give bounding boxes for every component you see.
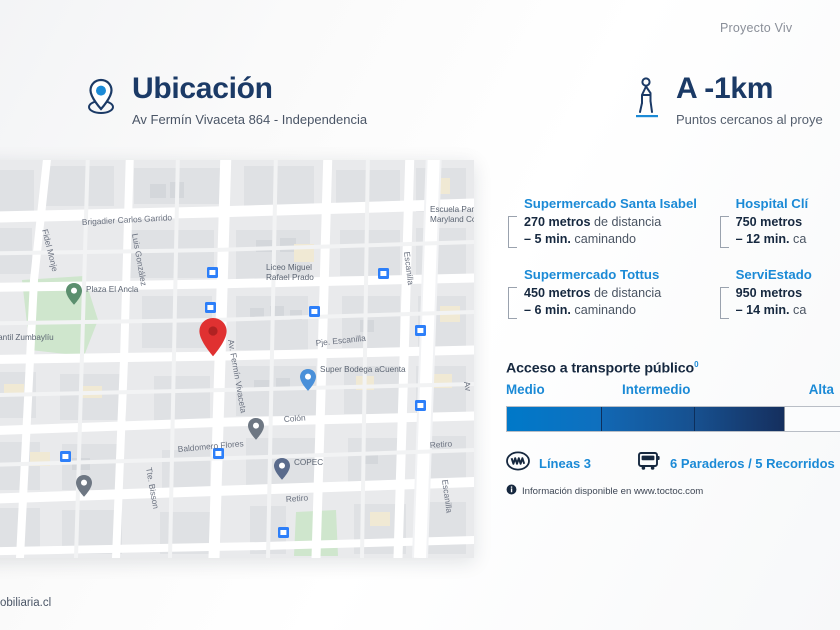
map-place-label: Plaza El Ancla (86, 285, 139, 294)
poi-name: Hospital Clí (736, 196, 840, 211)
transport-access-title-text: Acceso a transporte público (506, 361, 694, 377)
poi-row: Supermercado Santa Isabel 270 metros de … (506, 196, 840, 247)
poi-time-value: – 6 min. (524, 303, 571, 317)
map-street-label: Colón (283, 412, 306, 424)
bracket-icon (508, 287, 517, 319)
info-note-text: Información disponible en www.toctoc.com (522, 486, 703, 497)
scale-label-medio: Medio (506, 382, 545, 397)
page-title: Ubicación (132, 74, 367, 104)
pedestrian-walking-icon (632, 76, 662, 125)
poi-time-value: – 14 min. (736, 303, 790, 317)
transport-access-bar (506, 406, 840, 432)
poi-distance: 270 metros de distancia (524, 214, 718, 231)
map-place-label: Liceo Miguel (266, 263, 312, 272)
poi-time: – 12 min. ca (736, 231, 840, 248)
bus-stops-label: 6 Paraderos / 5 Recorridos (670, 456, 835, 471)
poi-distance-value: 450 metros (524, 286, 591, 300)
map-place-label: Super Bodega aCuenta (320, 365, 406, 374)
info-note: Información disponible en www.toctoc.com (506, 484, 703, 498)
poi-time-suffix: caminando (571, 303, 636, 317)
bar-segment-4-empty (784, 407, 840, 431)
poi-time-value: – 12 min. (736, 232, 790, 246)
transport-title-superscript: 0 (694, 360, 698, 369)
footer-brand: obiliaria.cl (0, 597, 150, 609)
brand-top-right: Proyecto Viv (720, 21, 840, 35)
poi-time-suffix: caminando (571, 232, 636, 246)
header-walking-distance: A -1km Puntos cercanos al proye (632, 74, 823, 127)
bar-segment-2 (601, 407, 695, 431)
scale-label-intermedio: Intermedio (622, 382, 690, 397)
info-icon (506, 484, 517, 498)
poi-distance-value: 750 metros (736, 215, 803, 229)
poi-card: Hospital Clí 750 metros – 12 min. ca (718, 196, 840, 247)
walking-title: A -1km (676, 74, 823, 104)
poi-name: Supermercado Santa Isabel (524, 196, 718, 211)
poi-name: ServiEstado (736, 267, 840, 282)
slide-background: Proyecto Viv Ubicación Av Fermín Vivacet… (0, 0, 840, 630)
stat-metro: Líneas 3 (506, 451, 591, 476)
poi-time: – 5 min. caminando (524, 231, 718, 248)
poi-name: Supermercado Tottus (524, 267, 718, 282)
transport-scale-labels: Medio Intermedio Alta (506, 382, 840, 402)
metro-icon (506, 451, 530, 476)
map-place-label: Escuela Parti (430, 205, 474, 214)
poi-distance: 750 metros (736, 214, 840, 231)
bus-icon (637, 450, 661, 477)
stat-bus: 6 Paraderos / 5 Recorridos (637, 450, 835, 477)
poi-distance-suffix: de distancia (591, 215, 662, 229)
scale-label-alta: Alta (809, 382, 834, 397)
poi-time: – 14 min. ca (736, 302, 840, 319)
bracket-icon (720, 216, 729, 248)
poi-row: Supermercado Tottus 450 metros de distan… (506, 267, 840, 318)
poi-time-value: – 5 min. (524, 232, 571, 246)
bracket-icon (508, 216, 517, 248)
poi-distance-value: 950 metros (736, 286, 803, 300)
header-location: Ubicación Av Fermín Vivaceta 864 - Indep… (84, 74, 367, 127)
transport-access-title: Acceso a transporte público0 (506, 360, 840, 377)
location-pin-icon (84, 76, 118, 121)
map-card[interactable]: Brigadier Carlos Garrido Fidel Monje Lui… (0, 160, 474, 558)
map-place-label: Maryland Co (430, 215, 474, 224)
poi-card: Supermercado Santa Isabel 270 metros de … (506, 196, 718, 247)
bar-segment-1 (507, 407, 601, 431)
transport-stats: Líneas 3 6 Paraderos / 5 Recorridos (506, 450, 835, 477)
metro-lines-label: Líneas 3 (539, 456, 591, 471)
poi-time-suffix: ca (790, 303, 807, 317)
transport-access-section: Acceso a transporte público0 Medio Inter… (506, 360, 840, 432)
bracket-icon (720, 287, 729, 319)
poi-distance: 950 metros (736, 285, 840, 302)
bar-segment-3 (694, 407, 784, 431)
map-street-label: Retiro (429, 438, 452, 450)
poi-time: – 6 min. caminando (524, 302, 718, 319)
poi-distance: 450 metros de distancia (524, 285, 718, 302)
map-place-label: COPEC (294, 458, 323, 467)
map-street-label: Retiro (285, 492, 308, 504)
poi-card: Supermercado Tottus 450 metros de distan… (506, 267, 718, 318)
map-place-label: Jardín Infantil Zumbaylíu (0, 333, 54, 342)
poi-card: ServiEstado 950 metros – 14 min. ca (718, 267, 840, 318)
poi-distance-suffix: de distancia (591, 286, 662, 300)
map-canvas[interactable]: Brigadier Carlos Garrido Fidel Monje Lui… (0, 160, 474, 558)
walking-subtitle: Puntos cercanos al proye (676, 112, 823, 127)
page-subtitle: Av Fermín Vivaceta 864 - Independencia (132, 112, 367, 127)
poi-time-suffix: ca (790, 232, 807, 246)
nearby-points-list: Supermercado Santa Isabel 270 metros de … (506, 196, 840, 318)
poi-distance-value: 270 metros (524, 215, 591, 229)
map-place-label: Rafael Prado (266, 273, 314, 282)
